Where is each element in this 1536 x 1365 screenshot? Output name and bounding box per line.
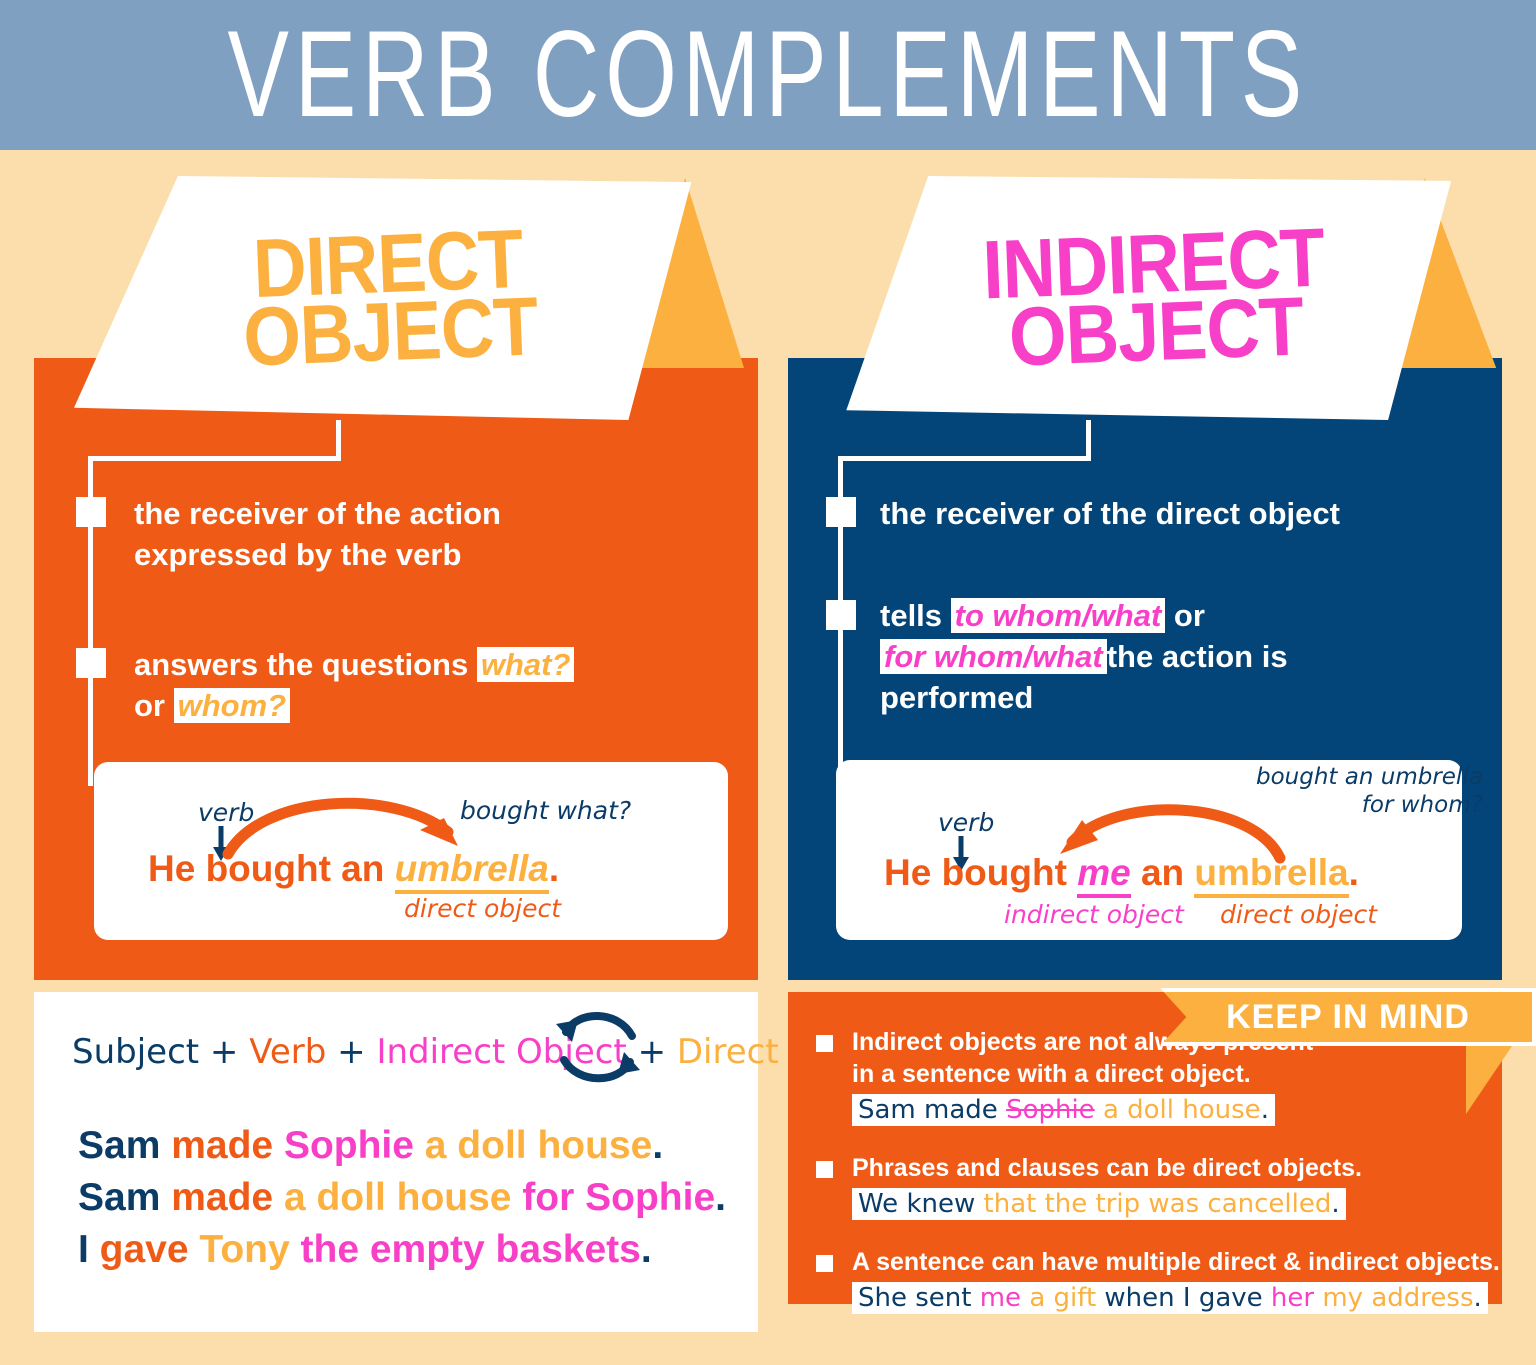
keep-in-mind-example-part-0: She sent	[858, 1283, 980, 1313]
io-label-direct-object: direct object	[1220, 900, 1377, 929]
formula-sentence-1-part-1: made	[171, 1176, 284, 1219]
io-example-sentence: He bought me an umbrella.	[884, 852, 1359, 894]
io-bullet-2-pre: tells	[880, 598, 951, 633]
io-bullet-1-label: the receiver of the direct object	[880, 496, 1340, 531]
keep-in-mind-example-part-6: .	[1473, 1283, 1481, 1313]
do-bullet-1-line1: the receiver of the action	[134, 496, 501, 531]
formula-sentence-2-part-2: Tony	[199, 1228, 300, 1271]
do-sentence-direct-object: umbrella	[395, 848, 549, 894]
formula-sentence-0-part-0: Sam	[78, 1124, 171, 1167]
indirect-object-banner-line2: OBJECT	[984, 287, 1328, 376]
do-label-question: bought what?	[460, 796, 631, 825]
formula-sentence-2-part-1: gave	[100, 1228, 200, 1271]
do-sentence-pre: He bought an	[148, 848, 395, 889]
keep-in-mind-bullet-square	[816, 1035, 833, 1052]
keep-in-mind-example-part-2: a doll house	[1095, 1095, 1261, 1125]
keep-in-mind-example-part-4: her	[1271, 1283, 1322, 1313]
io-sentence-pre: He bought	[884, 852, 1077, 893]
keep-in-mind-example-part-5: my address	[1322, 1283, 1473, 1313]
io-bullet-square-2	[826, 600, 856, 630]
page-header: VERB COMPLEMENTS	[0, 0, 1536, 150]
do-bullet-2-pre: answers the questions	[134, 647, 477, 682]
keep-in-mind-item-heading: Phrases and clauses can be direct object…	[852, 1152, 1500, 1184]
do-bullet-text-2: answers the questions what? or whom?	[134, 645, 734, 727]
formula-part-2: Verb	[249, 1032, 326, 1072]
formula-sentence-0-part-2: Sophie	[284, 1124, 425, 1167]
keep-in-mind-example-part-3: .	[1261, 1095, 1269, 1125]
do-bullet-square-2	[76, 648, 106, 678]
keep-in-mind-item-example: She sent me a gift when I gave her my ad…	[852, 1282, 1488, 1314]
keep-in-mind-ribbon: KEEP IN MIND	[1160, 988, 1536, 1046]
formula-sentence-0: Sam made Sophie a doll house.	[78, 1120, 726, 1172]
io-label-question-line1: bought an umbrella	[1256, 764, 1483, 790]
formula-sentence-0-part-1: made	[171, 1124, 284, 1167]
keep-in-mind-item: Phrases and clauses can be direct object…	[810, 1152, 1500, 1220]
keep-in-mind-example-part-2: .	[1331, 1189, 1339, 1219]
formula-example-sentences: Sam made Sophie a doll house.Sam made a …	[78, 1120, 726, 1276]
io-sentence-direct-object: umbrella	[1194, 852, 1348, 898]
keep-in-mind-ribbon-label: KEEP IN MIND	[1226, 998, 1470, 1037]
formula-sentence-0-part-4: .	[652, 1124, 663, 1167]
formula-sentence-1-part-2: a doll house	[284, 1176, 522, 1219]
io-bullet-text-2: tells to whom/what or for whom/whatthe a…	[880, 596, 1500, 719]
keep-in-mind-bullet-square	[816, 1161, 833, 1178]
keep-in-mind-example-part-1: me	[980, 1283, 1030, 1313]
formula-sentence-2-part-0: I	[78, 1228, 100, 1271]
keep-in-mind-example-part-0: Sam made	[858, 1095, 1006, 1125]
keep-in-mind-item-heading-line2: in a sentence with a direct object.	[852, 1060, 1251, 1088]
io-connector-vertical-top	[1086, 420, 1091, 460]
formula-sentence-1-part-4: .	[715, 1176, 726, 1219]
direct-object-banner: DIRECT OBJECT	[74, 176, 704, 420]
indirect-object-banner: INDIRECT OBJECT	[840, 176, 1470, 420]
page-title: VERB COMPLEMENTS	[228, 14, 1308, 137]
keep-in-mind-list: Indirect objects are not always presenti…	[810, 1026, 1500, 1340]
formula-part-1: +	[199, 1032, 249, 1072]
do-bullet-square-1	[76, 497, 106, 527]
formula-sentence-2-part-3: the empty baskets	[301, 1228, 641, 1271]
keep-in-mind-item-example: We knew that the trip was cancelled.	[852, 1188, 1346, 1220]
io-connector-horizontal	[838, 456, 1091, 461]
keep-in-mind-item-heading: A sentence can have multiple direct & in…	[852, 1246, 1500, 1278]
do-bullet-1-line2: expressed by the verb	[134, 537, 461, 572]
direct-object-example-box: verb bought what? He bought an umbrella.…	[94, 762, 728, 940]
formula-sentence-2-part-4: .	[641, 1228, 652, 1271]
io-highlight-to-whom: to whom/what	[951, 598, 1166, 633]
io-label-indirect-object: indirect object	[1004, 900, 1184, 929]
do-bullet-2-mid: or	[134, 688, 174, 723]
formula-box: Subject + Verb + Indirect Object + Direc…	[34, 992, 758, 1332]
do-bullet-text-1: the receiver of the action expressed by …	[134, 494, 734, 576]
formula-sentence-1: Sam made a doll house for Sophie.	[78, 1172, 726, 1224]
do-example-sentence: He bought an umbrella.	[148, 848, 559, 890]
keep-in-mind-example-part-3: when I gave	[1104, 1283, 1271, 1313]
io-sentence-indirect-object: me	[1077, 852, 1130, 898]
keep-in-mind-example-part-0: We knew	[858, 1189, 984, 1219]
do-highlight-whom: whom?	[174, 688, 291, 723]
io-highlight-for-whom: for whom/what	[880, 639, 1107, 674]
do-label-direct-object: direct object	[404, 894, 561, 923]
io-bullet-2-post2: performed	[880, 680, 1033, 715]
io-label-question: bought an umbrella for whom?	[1256, 764, 1483, 819]
formula-part-0: Subject	[72, 1032, 199, 1072]
keep-in-mind-example-part-1: Sophie	[1006, 1095, 1095, 1125]
io-bullet-2-post: the action is	[1107, 639, 1288, 674]
io-bullet-square-1	[826, 497, 856, 527]
io-sentence-period: .	[1349, 852, 1359, 893]
io-label-question-line2: for whom?	[1362, 792, 1483, 818]
io-bullet-text-1: the receiver of the direct object	[880, 494, 1500, 535]
keep-in-mind-example-part-2: a gift	[1029, 1283, 1104, 1313]
formula-sentence-1-part-3: for Sophie	[522, 1176, 715, 1219]
keep-in-mind-item: A sentence can have multiple direct & in…	[810, 1246, 1500, 1314]
formula-part-3: +	[326, 1032, 376, 1072]
keep-in-mind-bullet-square	[816, 1255, 833, 1272]
do-highlight-what: what?	[477, 647, 575, 682]
io-sentence-mid: an	[1131, 852, 1195, 893]
keep-in-mind-example-part-1: that the trip was cancelled	[984, 1189, 1332, 1219]
do-connector-horizontal	[88, 456, 341, 461]
io-label-verb: verb	[938, 808, 994, 837]
do-connector-vertical-top	[336, 420, 341, 460]
swap-arrows-icon	[544, 1002, 652, 1094]
formula-sentence-2: I gave Tony the empty baskets.	[78, 1224, 726, 1276]
direct-object-banner-line2: OBJECT	[242, 288, 539, 375]
io-bullet-2-mid: or	[1165, 598, 1205, 633]
do-sentence-period: .	[549, 848, 559, 889]
formula-sentence-0-part-3: a doll house	[425, 1124, 653, 1167]
formula-sentence-1-part-0: Sam	[78, 1176, 171, 1219]
indirect-object-example-box: verb bought an umbrella for whom? He bou…	[836, 760, 1462, 940]
keep-in-mind-item-example: Sam made Sophie a doll house.	[852, 1094, 1275, 1126]
